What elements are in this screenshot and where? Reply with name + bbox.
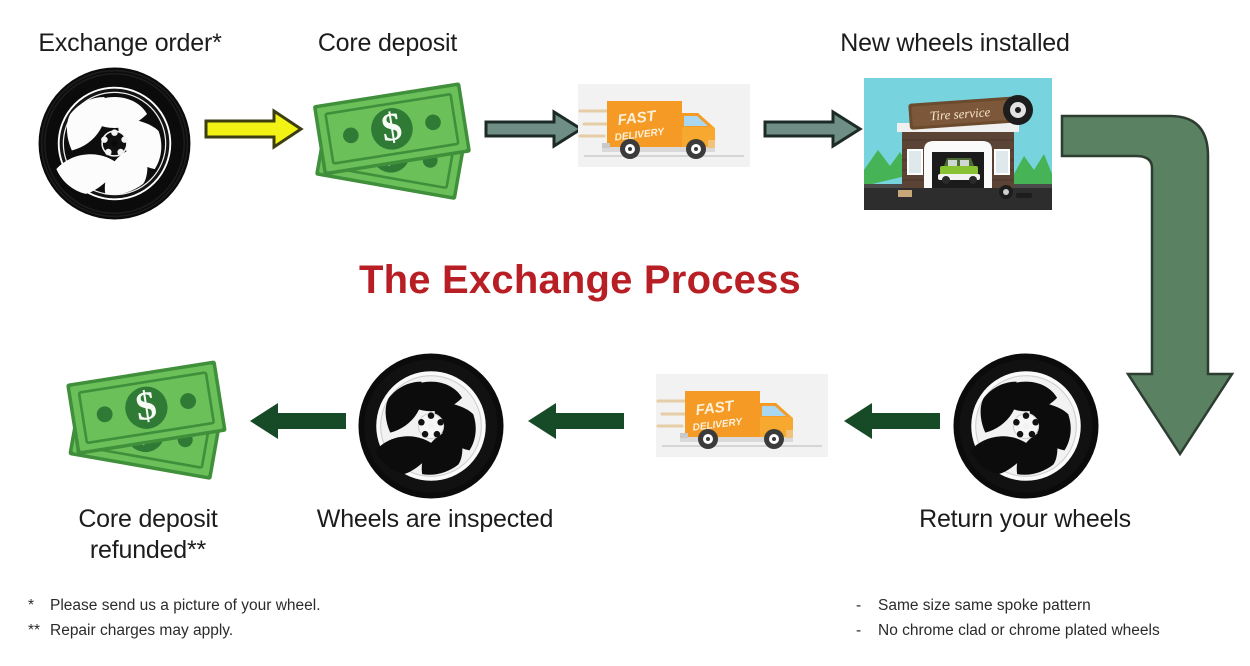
arrow-right-yellow-icon xyxy=(204,108,304,150)
label-core-deposit-refunded: Core deposit refunded** xyxy=(28,504,268,567)
footnote-marker: - xyxy=(856,618,878,643)
delivery-truck-top: FAST DELIVERY xyxy=(578,84,750,167)
wheel-silver-return-icon xyxy=(952,352,1100,500)
footnote-text: No chrome clad or chrome plated wheels xyxy=(878,622,1160,639)
footnotes-right: -Same size same spoke pattern -No chrome… xyxy=(856,593,1160,643)
footnote-marker: * xyxy=(28,593,50,618)
footnote-text: Same size same spoke pattern xyxy=(878,597,1091,614)
exchange-process-diagram: Exchange order* Core deposit New wheels … xyxy=(0,0,1250,666)
footnote-item: -No chrome clad or chrome plated wheels xyxy=(856,618,1160,643)
cash-icon-bottom: $ $ xyxy=(58,352,238,484)
footnote-item: **Repair charges may apply. xyxy=(28,618,321,643)
delivery-truck-bottom: FAST DELIVERY xyxy=(656,374,828,457)
footnote-marker: - xyxy=(856,593,878,618)
label-wheels-are-inspected: Wheels are inspected xyxy=(300,504,570,535)
cash-icon-top: $ $ xyxy=(306,74,481,204)
footnote-item: -Same size same spoke pattern xyxy=(856,593,1160,618)
label-core-deposit-refunded-line2: refunded** xyxy=(28,535,268,566)
footnote-item: *Please send us a picture of your wheel. xyxy=(28,593,321,618)
arrow-left-green-1-icon xyxy=(246,400,348,442)
label-exchange-order: Exchange order* xyxy=(10,28,250,59)
footnote-marker: ** xyxy=(28,618,50,643)
arrow-left-green-3-icon xyxy=(840,400,942,442)
footnote-text: Repair charges may apply. xyxy=(50,622,233,639)
page-title: The Exchange Process xyxy=(0,258,1160,303)
wheel-black-icon xyxy=(37,66,192,221)
arrow-right-slate-2-icon xyxy=(763,108,863,150)
arrow-left-green-2-icon xyxy=(524,400,626,442)
label-core-deposit-refunded-line1: Core deposit xyxy=(28,504,268,535)
label-return-your-wheels: Return your wheels xyxy=(900,504,1150,535)
footnotes-left: *Please send us a picture of your wheel.… xyxy=(28,593,321,643)
footnote-text: Please send us a picture of your wheel. xyxy=(50,597,321,614)
wheel-silver-inspected-icon xyxy=(357,352,505,500)
label-new-wheels-installed: New wheels installed xyxy=(790,28,1120,59)
tire-service-shop-illustration: Tire service xyxy=(864,78,1052,210)
arrow-right-slate-1-icon xyxy=(484,108,584,150)
label-core-deposit: Core deposit xyxy=(280,28,495,59)
